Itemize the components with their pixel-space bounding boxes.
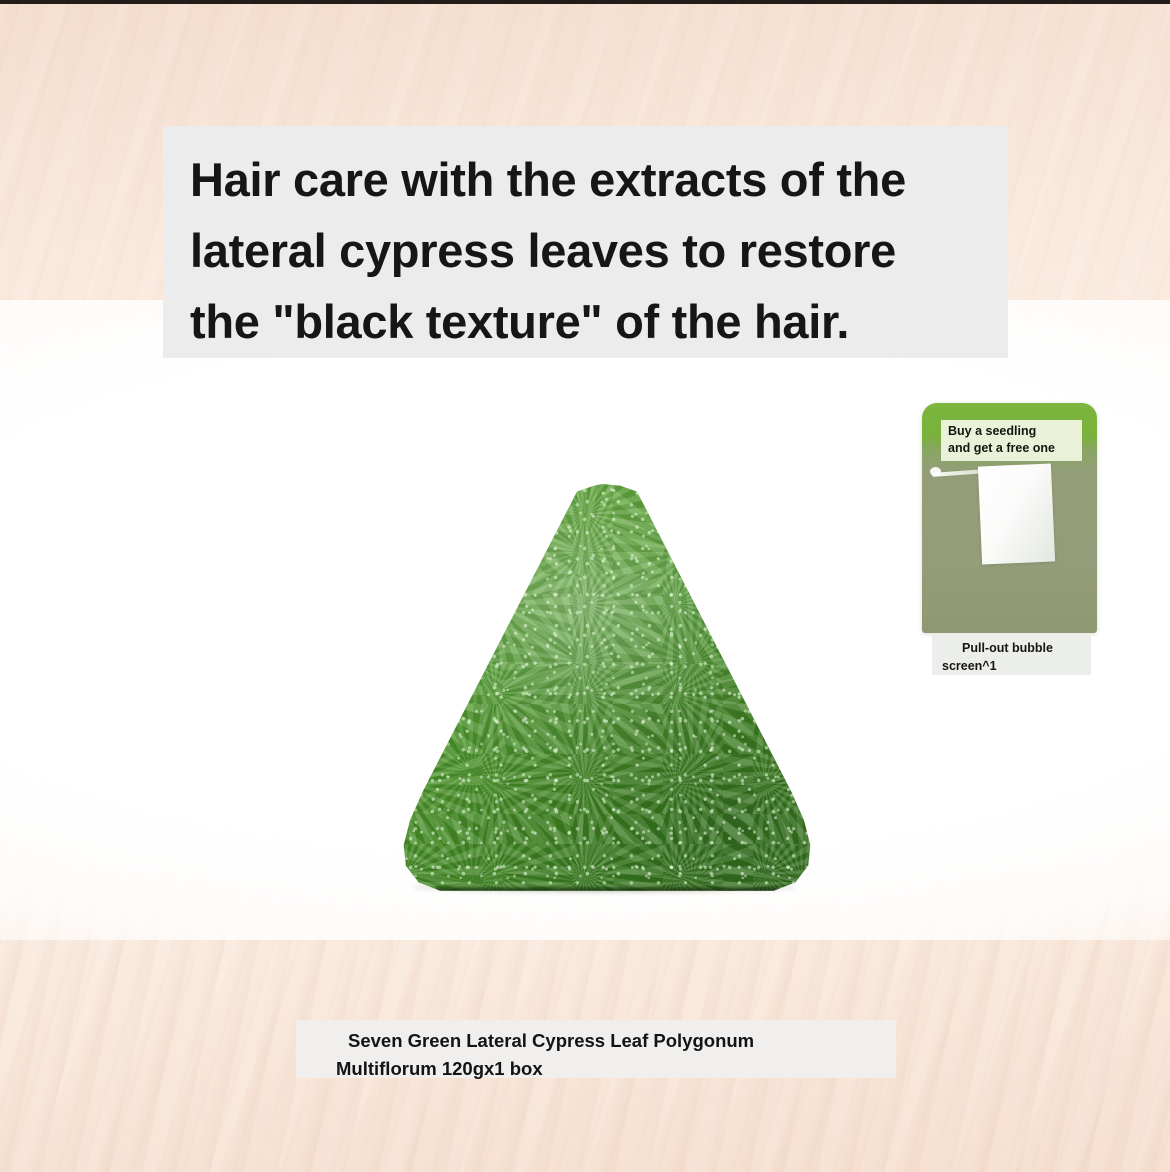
promo-offer-line-1: Buy a seedling	[948, 423, 1078, 440]
soap-bar-product-photo	[393, 484, 821, 899]
promo-offer-line-2: and get a free one	[948, 440, 1078, 457]
product-name-caption: Seven Green Lateral Cypress Leaf Polygon…	[296, 1020, 896, 1078]
top-edge-strip	[0, 0, 1170, 4]
promo-card-caption: Pull-out bubble screen^1	[932, 635, 1091, 675]
headline-line-3: the "black texture" of the hair.	[190, 286, 1008, 357]
product-marketing-image: Hair care with the extracts of the later…	[0, 0, 1170, 1172]
promo-inset-card: Buy a seedling and get a free one	[922, 403, 1097, 633]
soap-bar-triangle	[393, 484, 821, 899]
promo-offer-label: Buy a seedling and get a free one	[941, 420, 1082, 461]
headline-line-1: Hair care with the extracts of the	[190, 144, 1008, 215]
mesh-bag-drawstring-knot-icon	[930, 467, 941, 476]
promo-caption-line-2: screen^1	[942, 657, 1091, 675]
promo-caption-line-1: Pull-out bubble	[942, 639, 1091, 657]
headline-panel: Hair care with the extracts of the later…	[163, 126, 1008, 358]
product-caption-line-1: Seven Green Lateral Cypress Leaf Polygon…	[348, 1027, 896, 1055]
headline-line-2: lateral cypress leaves to restore	[190, 215, 1008, 286]
product-caption-line-2: Multiflorum 120gx1 box	[336, 1055, 896, 1083]
mesh-bubble-bag-image	[978, 463, 1055, 564]
